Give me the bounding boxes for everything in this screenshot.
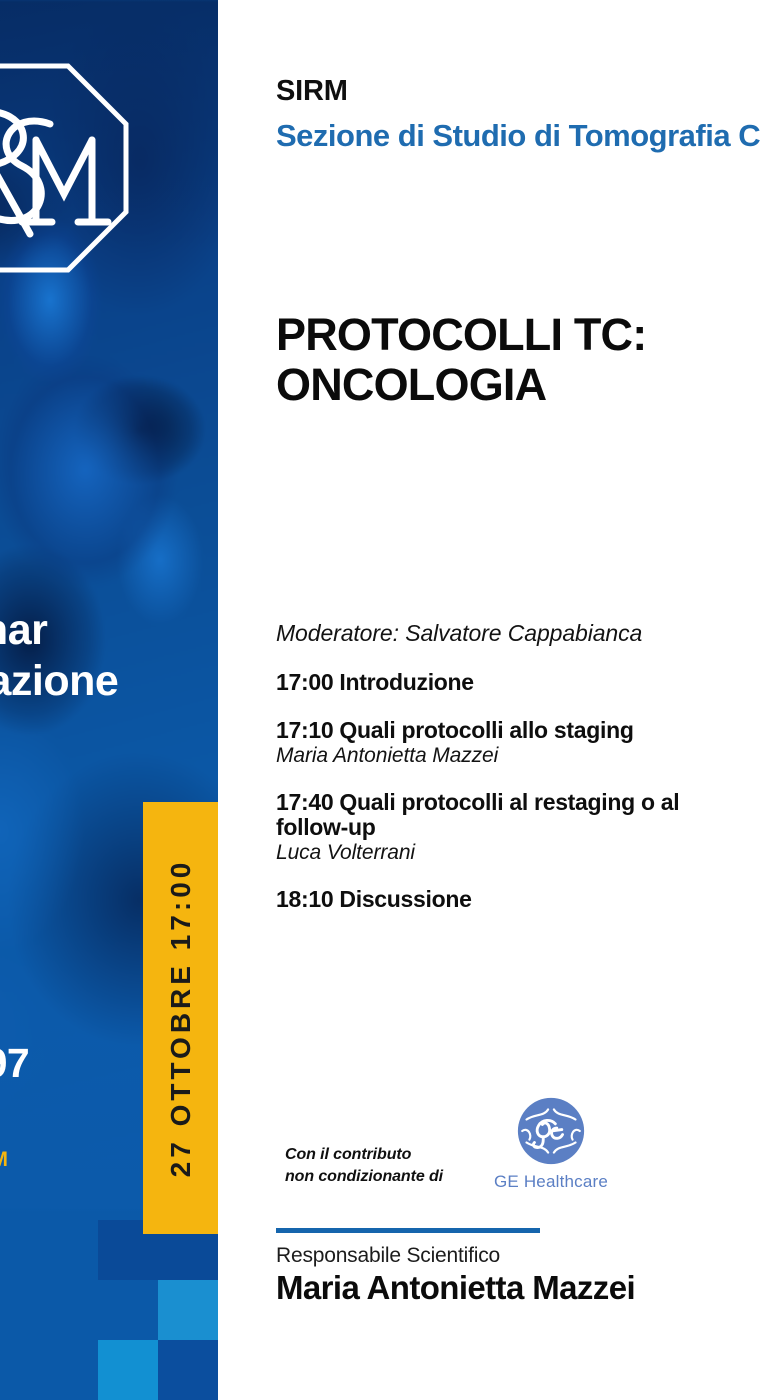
footer-divider: [276, 1228, 540, 1233]
panel-tag: SIRM: [0, 1148, 9, 1172]
footer-block: Responsabile Scientifico Maria Antoniett…: [276, 1228, 746, 1307]
panel-headline: Webinar Formazione: [0, 605, 172, 706]
sponsor-note-line2: non condizionante di: [285, 1166, 443, 1188]
footer-role: Responsabile Scientifico: [276, 1244, 746, 1268]
program-item-speaker: Luca Volterrani: [276, 841, 746, 865]
program-item: 17:00 Introduzione: [276, 670, 746, 696]
organization-block: SIRM Sezione di Studio di Tomografia Com…: [276, 76, 760, 155]
panel-headline-line2: Formazione: [0, 656, 172, 707]
panel-headline-line1: Webinar: [0, 605, 172, 656]
program-item-title: 18:10 Discussione: [276, 887, 746, 913]
program-item-title: 17:40 Quali protocolli al restaging o al…: [276, 790, 746, 842]
moderator-line: Moderatore: Salvatore Cappabianca: [276, 620, 746, 647]
program-item: 17:10 Quali protocolli allo staging Mari…: [276, 718, 746, 768]
mosaic-tile: [158, 1340, 218, 1400]
footer-name: Maria Antonietta Mazzei: [276, 1269, 746, 1307]
date-band: 27 OTTOBRE 17:00: [143, 802, 218, 1234]
page-title: PROTOCOLLI TC: ONCOLOGIA: [276, 310, 760, 411]
sponsor-block: Con il contributo non condizionante di: [276, 1095, 746, 1200]
program-item: 18:10 Discussione: [276, 887, 746, 913]
mosaic-decoration: [0, 1220, 218, 1400]
ge-healthcare-logo: GE Healthcare: [466, 1095, 636, 1192]
program-item-speaker: Maria Antonietta Mazzei: [276, 744, 746, 768]
panel-year: 1897: [0, 1040, 29, 1087]
date-band-text: 27 OTTOBRE 17:00: [165, 859, 197, 1178]
content-area: SIRM Sezione di Studio di Tomografia Com…: [218, 0, 760, 1400]
program-item: 17:40 Quali protocolli al restaging o al…: [276, 790, 746, 866]
program-item-title: 17:10 Quali protocolli allo staging: [276, 718, 746, 744]
mosaic-tile: [98, 1340, 158, 1400]
ge-brand-text: GE Healthcare: [466, 1172, 636, 1192]
org-name: SIRM: [276, 76, 760, 108]
sponsor-note: Con il contributo non condizionante di: [285, 1144, 443, 1187]
sirm-logo: [0, 62, 130, 274]
program-list: Moderatore: Salvatore Cappabianca 17:00 …: [276, 620, 746, 913]
program-item-title: 17:00 Introduzione: [276, 670, 746, 696]
sponsor-note-line1: Con il contributo: [285, 1144, 443, 1166]
left-blue-panel: Webinar Formazione 1897 SIRM 27 OTTOBRE …: [0, 0, 218, 1400]
mosaic-tile: [158, 1280, 218, 1340]
org-section: Sezione di Studio di Tomografia Computer…: [276, 117, 760, 155]
ge-monogram-icon: [515, 1095, 587, 1167]
